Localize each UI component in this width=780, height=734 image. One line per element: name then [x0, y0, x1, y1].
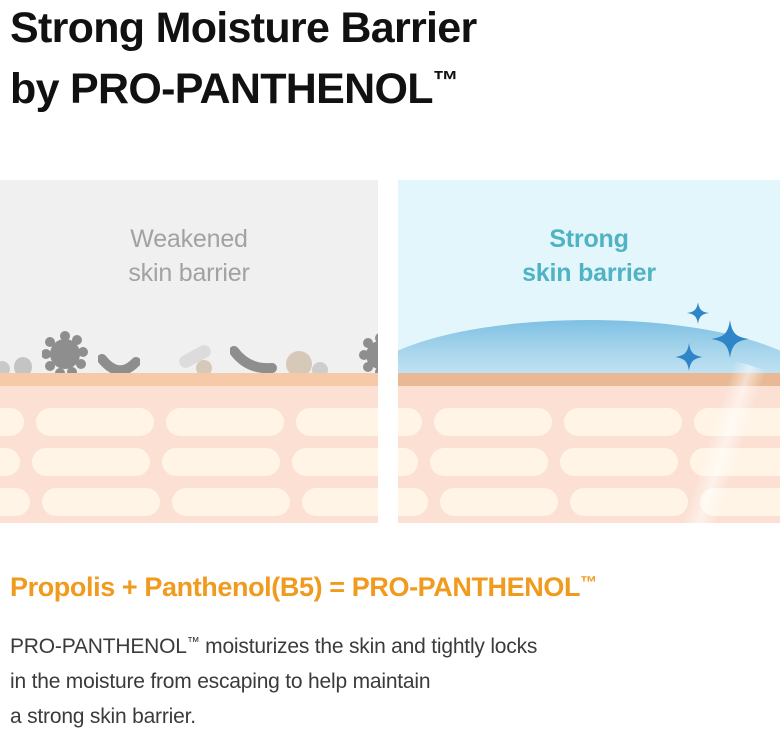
skin-cell-row [0, 488, 378, 516]
title-line-2-text: by PRO-PANTHENOL [10, 65, 433, 113]
strong-caption: Strong skin barrier [398, 222, 780, 290]
body-line-1: PRO-PANTHENOL™ moisturizes the skin and … [10, 624, 750, 664]
skin-cell [32, 448, 150, 476]
skin-dermis [398, 386, 780, 523]
title-line-1: Strong Moisture Barrier [10, 2, 770, 54]
skin-cell [694, 408, 780, 436]
skin-cell [398, 488, 428, 516]
germ-rod-icon [230, 346, 278, 376]
skin-cell [292, 448, 378, 476]
skin-cell [172, 488, 290, 516]
strong-caption-line-2: skin barrier [398, 256, 780, 290]
weakened-caption-line-1: Weakened [0, 222, 378, 256]
skin-cell [398, 448, 418, 476]
skin-cell [0, 488, 30, 516]
skin-cell [42, 488, 160, 516]
panel-weakened-barrier: Weakened skin barrier [0, 180, 378, 523]
skin-cell [0, 408, 24, 436]
skin-cell [162, 448, 280, 476]
trademark-symbol: ™ [187, 634, 200, 649]
germ-spiky-icon [42, 331, 88, 377]
panel-strong-barrier: Strong skin barrier [398, 180, 780, 523]
skin-barrier-illustration: Weakened skin barrier [0, 180, 780, 523]
sparkle-icon [687, 302, 709, 324]
germ-spiky-icon [358, 333, 378, 377]
skin-surface-band [398, 373, 780, 386]
skin-cell-row [398, 408, 780, 436]
body-paragraph: PRO-PANTHENOL™ moisturizes the skin and … [10, 624, 750, 734]
sparkle-icon [711, 320, 749, 358]
skin-cell [36, 408, 154, 436]
trademark-symbol: ™ [433, 65, 459, 95]
title-line-2: by PRO-PANTHENOL™ [10, 54, 770, 115]
skin-layers-left [0, 373, 378, 523]
body-line-2: in the moisture from escaping to help ma… [10, 664, 750, 699]
skin-cell [700, 488, 780, 516]
skin-cell [690, 448, 780, 476]
skin-cell [166, 408, 284, 436]
skin-layers-right [398, 373, 780, 523]
skin-surface-band [0, 373, 378, 386]
accent-heading: Propolis + Panthenol(B5) = PRO-PANTHENOL… [10, 572, 597, 603]
trademark-symbol: ™ [580, 573, 597, 592]
accent-heading-text: Propolis + Panthenol(B5) = PRO-PANTHENOL [10, 572, 580, 602]
body-line-1-rest: moisturizes the skin and tightly locks [200, 635, 538, 658]
skin-cell [560, 448, 678, 476]
skin-cell-row [398, 488, 780, 516]
skin-dermis [0, 386, 378, 523]
skin-cell [296, 408, 378, 436]
sparkle-icon [675, 343, 703, 371]
skin-cell [398, 408, 422, 436]
skin-cell [440, 488, 558, 516]
weakened-caption: Weakened skin barrier [0, 222, 378, 290]
skin-cell [570, 488, 688, 516]
skin-cell [0, 448, 20, 476]
skin-cell-row [398, 448, 780, 476]
strong-caption-line-1: Strong [398, 222, 780, 256]
weakened-caption-line-2: skin barrier [0, 256, 378, 290]
skin-cell [430, 448, 548, 476]
skin-cell [302, 488, 378, 516]
skin-cell-row [0, 408, 378, 436]
skin-cell [564, 408, 682, 436]
page-title: Strong Moisture Barrier by PRO-PANTHENOL… [10, 2, 770, 115]
body-line-3: a strong skin barrier. [10, 699, 750, 734]
body-line-1-brand: PRO-PANTHENOL [10, 635, 187, 658]
skin-cell [434, 408, 552, 436]
skin-cell-row [0, 448, 378, 476]
